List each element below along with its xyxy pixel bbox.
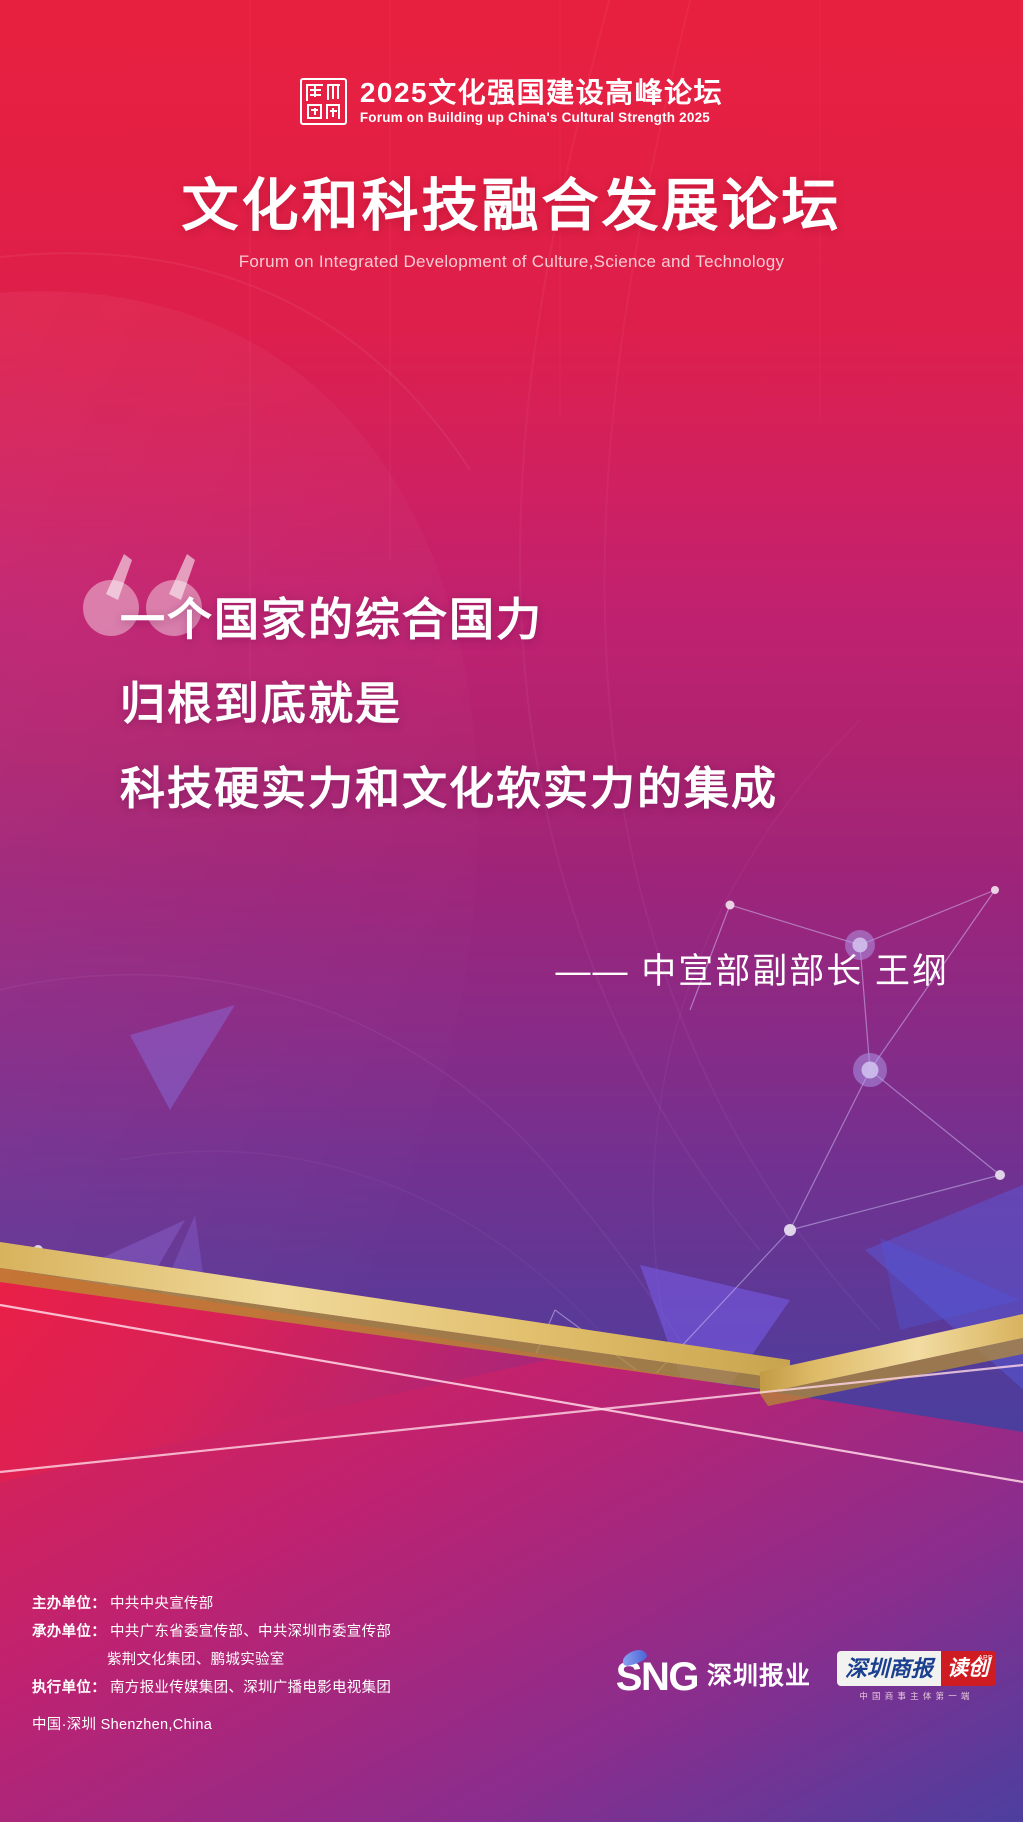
locale-text: 中国·深圳 Shenzhen,China (32, 1713, 391, 1734)
quote-text: 一个国家的综合国力 归根到底就是 科技硬实力和文化软实力的集成 (120, 595, 778, 814)
credit-row: 承办单位： 中共广东省委宣传部、中共深圳市委宣传部 (32, 1620, 391, 1641)
szsb-tagline: 中国商事主体第一端 (859, 1690, 973, 1702)
credit-label: 承办单位： (32, 1620, 106, 1641)
page-title: 文化和科技融合发展论坛 (182, 175, 842, 238)
page-subtitle: Forum on Integrated Development of Cultu… (239, 252, 785, 272)
quote-attribution: —— 中宣部副部长 王纲 (556, 943, 949, 994)
credit-value: 中共广东省委宣传部、中共深圳市委宣传部 (110, 1620, 391, 1641)
duchuang-block: 读创 APP (941, 1651, 996, 1686)
credit-value: 中共中央宣传部 (110, 1592, 214, 1613)
quote-line-2: 归根到底就是 (120, 679, 778, 729)
credit-row: 主办单位： 中共中央宣传部 (32, 1592, 391, 1613)
app-badge-text: APP (978, 1655, 993, 1662)
lockup-title-cn: 2025文化强国建设高峰论坛 (360, 78, 723, 107)
organizer-credits: 主办单位： 中共中央宣传部 承办单位： 中共广东省委宣传部、中共深圳市委宣传部 … (32, 1592, 391, 1734)
lockup-title-en: Forum on Building up China's Cultural St… (360, 111, 723, 125)
chinese-seal-icon (300, 78, 347, 125)
forum-lockup: 2025文化强国建设高峰论坛 Forum on Building up Chin… (300, 78, 723, 125)
poster-footer: 主办单位： 中共中央宣传部 承办单位： 中共广东省委宣传部、中共深圳市委宣传部 … (0, 1572, 1023, 1822)
sng-logo-cn: 深圳报业 (707, 1664, 811, 1689)
credit-value: 紫荆文化集团、鹏城实验室 (107, 1648, 285, 1669)
sponsor-logos: SNG 深圳报业 深圳商报 读创 APP 中国商事主体第一端 (616, 1651, 996, 1702)
quote-line-1: 一个国家的综合国力 (120, 595, 778, 645)
credit-value: 南方报业传媒集团、深圳广播电影电视集团 (110, 1676, 391, 1697)
szsb-name-block: 深圳商报 (837, 1651, 941, 1686)
szsb-logo-bar: 深圳商报 读创 APP (837, 1651, 996, 1686)
sng-logo: SNG 深圳报业 (616, 1657, 811, 1697)
shenzhen-shangbao-logo: 深圳商报 读创 APP 中国商事主体第一端 (837, 1651, 996, 1702)
credit-label: 执行单位： (32, 1676, 106, 1697)
szsb-name-text: 深圳商报 (845, 1658, 933, 1680)
credit-row: 紫荆文化集团、鹏城实验室 (32, 1648, 391, 1669)
sng-wordmark: SNG (616, 1657, 698, 1697)
credit-label: 主办单位： (32, 1592, 106, 1613)
poster-header: 2025文化强国建设高峰论坛 Forum on Building up Chin… (0, 78, 1023, 272)
credit-row: 执行单位： 南方报业传媒集团、深圳广播电影电视集团 (32, 1676, 391, 1697)
poster-canvas: 2025文化强国建设高峰论坛 Forum on Building up Chin… (0, 0, 1023, 1822)
quote-line-3: 科技硬实力和文化软实力的集成 (120, 764, 778, 814)
